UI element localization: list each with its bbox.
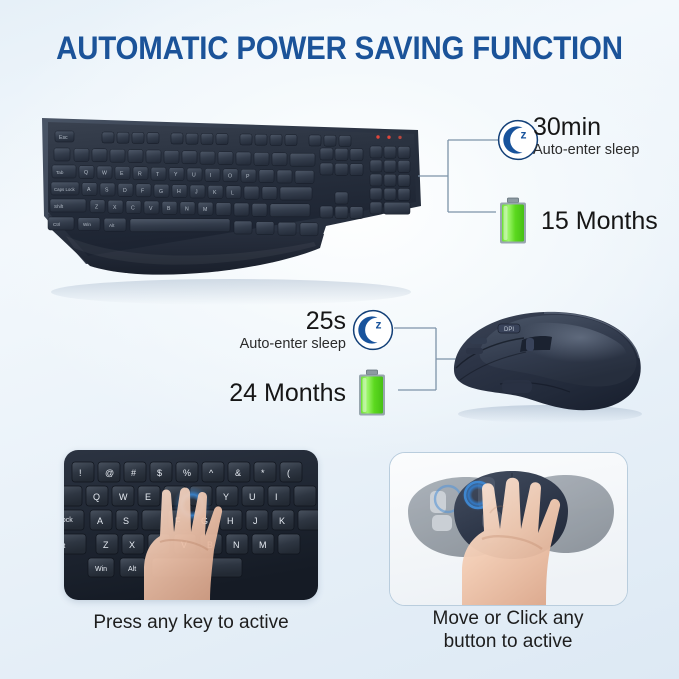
battery-full-icon [354, 368, 390, 423]
svg-text:Y: Y [174, 172, 178, 178]
svg-text:F: F [141, 188, 144, 194]
svg-text:z: z [521, 128, 527, 142]
svg-text:Tab: Tab [56, 170, 64, 175]
svg-text:N: N [233, 540, 240, 550]
mouse-sleep-label: Auto-enter sleep [196, 335, 346, 353]
mouse-sleep-time: 25s [196, 308, 346, 335]
svg-text:Lock: Lock [64, 517, 73, 524]
svg-text:D: D [123, 188, 127, 194]
keyboard-sleep-spec: 30min Auto-enter sleep [533, 114, 639, 159]
svg-text:O: O [228, 173, 232, 179]
svg-text:Alt: Alt [109, 223, 115, 228]
svg-text:N: N [185, 207, 189, 213]
infographic-root: AUTOMATIC POWER SAVING FUNCTION [0, 0, 679, 679]
hand-moving-mouse-photo [390, 453, 627, 605]
svg-text:W: W [102, 171, 107, 177]
svg-text:I: I [210, 173, 211, 179]
svg-text:*: * [261, 468, 265, 478]
svg-text:hift: hift [64, 543, 65, 550]
svg-text:P: P [246, 174, 250, 180]
svg-text:H: H [227, 516, 234, 526]
svg-text:Q: Q [84, 170, 88, 176]
svg-text:X: X [129, 540, 135, 550]
svg-text:E: E [120, 171, 124, 177]
svg-text:H: H [177, 189, 181, 195]
battery-full-icon [495, 196, 531, 251]
svg-text:Caps Lock: Caps Lock [54, 187, 76, 192]
svg-text:E: E [145, 492, 151, 502]
moon-z-sleep-icon: z [352, 309, 394, 356]
keyboard-sleep-label: Auto-enter sleep [533, 141, 639, 159]
svg-text:@: @ [105, 468, 114, 478]
svg-text:Ctrl: Ctrl [53, 222, 60, 227]
keyboard-sleep-time: 30min [533, 114, 639, 141]
svg-text:&: & [235, 468, 241, 478]
svg-text:V: V [149, 206, 153, 212]
svg-text:M: M [203, 207, 207, 213]
svg-text:A: A [87, 187, 91, 193]
svg-text:DPI: DPI [504, 327, 514, 333]
svg-text:z: z [376, 318, 382, 332]
svg-text:!: ! [79, 468, 82, 478]
svg-text:B: B [167, 206, 171, 212]
svg-text:A: A [97, 516, 103, 526]
svg-text:U: U [192, 173, 196, 179]
svg-text:M: M [259, 540, 267, 550]
svg-text:S: S [123, 516, 129, 526]
svg-text:C: C [131, 205, 135, 211]
svg-text:Z: Z [103, 540, 109, 550]
svg-text:K: K [279, 516, 285, 526]
svg-text:J: J [253, 516, 258, 526]
svg-text:R: R [138, 171, 142, 177]
svg-text:J: J [195, 190, 198, 196]
svg-text:(: ( [287, 468, 290, 478]
keyboard-wake-panel: !@# $%^ &*( QWE YUI ASF GHJ K ZXV BNM Lo… [64, 450, 318, 600]
svg-text:W: W [119, 492, 128, 502]
svg-text:#: # [131, 468, 136, 478]
mouse-battery-life: 24 Months [196, 380, 346, 407]
page-title: AUTOMATIC POWER SAVING FUNCTION [27, 30, 652, 67]
keyboard-wake-caption: Press any key to active [44, 611, 338, 634]
svg-text:Win: Win [95, 566, 107, 573]
svg-text:$: $ [157, 468, 162, 478]
svg-text:Esc: Esc [59, 135, 68, 141]
svg-text:S: S [105, 188, 109, 194]
svg-text:%: % [183, 468, 191, 478]
svg-text:G: G [159, 189, 163, 195]
wireless-keyboard-image: Esc Tab Caps Lock Shift Ctrl Win Alt QWE… [26, 96, 426, 306]
svg-text:K: K [213, 190, 217, 196]
mouse-wake-caption: Move or Click any button to active [362, 607, 654, 653]
hand-pressing-keyboard-keys-photo: !@# $%^ &*( QWE YUI ASF GHJ K ZXV BNM Lo… [64, 450, 318, 600]
keyboard-battery-life: 15 Months [541, 208, 658, 235]
svg-text:Q: Q [93, 492, 100, 502]
svg-text:Shift: Shift [54, 204, 64, 209]
wireless-mouse-image: DPI [440, 288, 655, 428]
svg-text:Alt: Alt [128, 566, 136, 573]
mouse-sleep-spec: 25s Auto-enter sleep [196, 308, 346, 353]
svg-text:Y: Y [223, 492, 229, 502]
svg-text:X: X [113, 205, 117, 211]
svg-text:I: I [275, 492, 278, 502]
svg-text:U: U [249, 492, 256, 502]
svg-text:Win: Win [83, 222, 91, 227]
svg-text:Z: Z [95, 205, 98, 211]
svg-text:L: L [231, 190, 234, 196]
mouse-wake-panel [389, 452, 628, 606]
